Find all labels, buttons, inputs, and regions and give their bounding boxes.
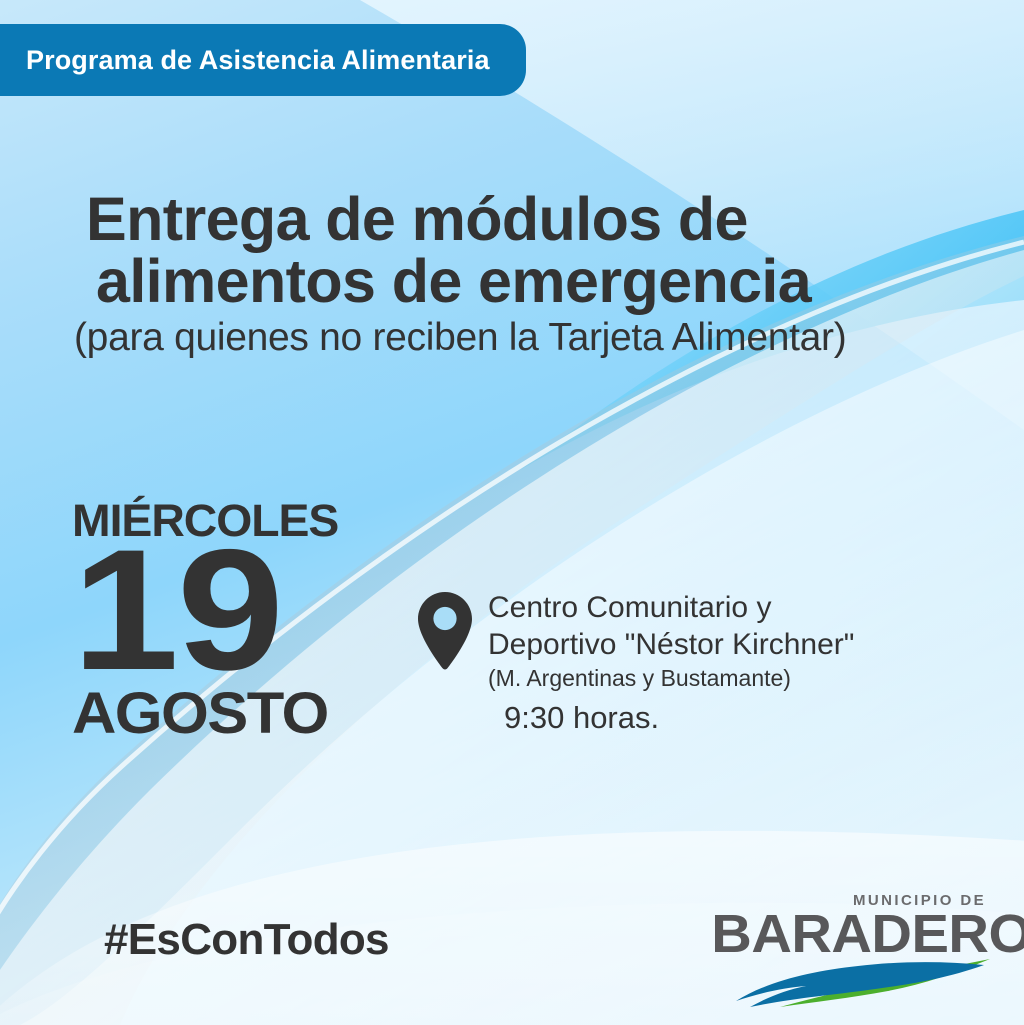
- program-banner-label: Programa de Asistencia Alimentaria: [26, 45, 490, 76]
- headline-subtitle: (para quienes no reciben la Tarjeta Alim…: [74, 318, 986, 359]
- program-banner: Programa de Asistencia Alimentaria: [0, 24, 526, 96]
- logo-swoosh-icon: [728, 957, 990, 1009]
- map-pin-icon: [418, 592, 472, 675]
- event-day-number: 19: [72, 537, 362, 685]
- venue-text-group: Centro Comunitario y Deportivo "Néstor K…: [488, 588, 854, 736]
- logo-swoosh-blue: [736, 962, 984, 1007]
- poster-canvas: Programa de Asistencia Alimentaria Entre…: [0, 0, 1024, 1025]
- venue-time: 9:30 horas.: [504, 699, 854, 736]
- venue-address: (M. Argentinas y Bustamante): [488, 664, 854, 693]
- headline-line-1: Entrega de módulos de: [86, 188, 986, 250]
- event-date-block: MIÉRCOLES 19 AGOSTO: [72, 500, 331, 742]
- campaign-hashtag: #EsConTodos: [104, 915, 389, 965]
- venue-name-line-1: Centro Comunitario y: [488, 590, 854, 627]
- venue-name-line-2: Deportivo "Néstor Kirchner": [488, 627, 854, 664]
- logo-wordmark: BARADERO: [711, 909, 990, 961]
- headline-block: Entrega de módulos de alimentos de emerg…: [86, 188, 986, 359]
- event-month: AGOSTO: [72, 687, 346, 742]
- headline-line-2: alimentos de emergencia: [96, 250, 986, 312]
- event-venue-block: Centro Comunitario y Deportivo "Néstor K…: [418, 588, 854, 736]
- municipality-logo: MUNICIPIO DE BARADERO: [722, 893, 990, 1009]
